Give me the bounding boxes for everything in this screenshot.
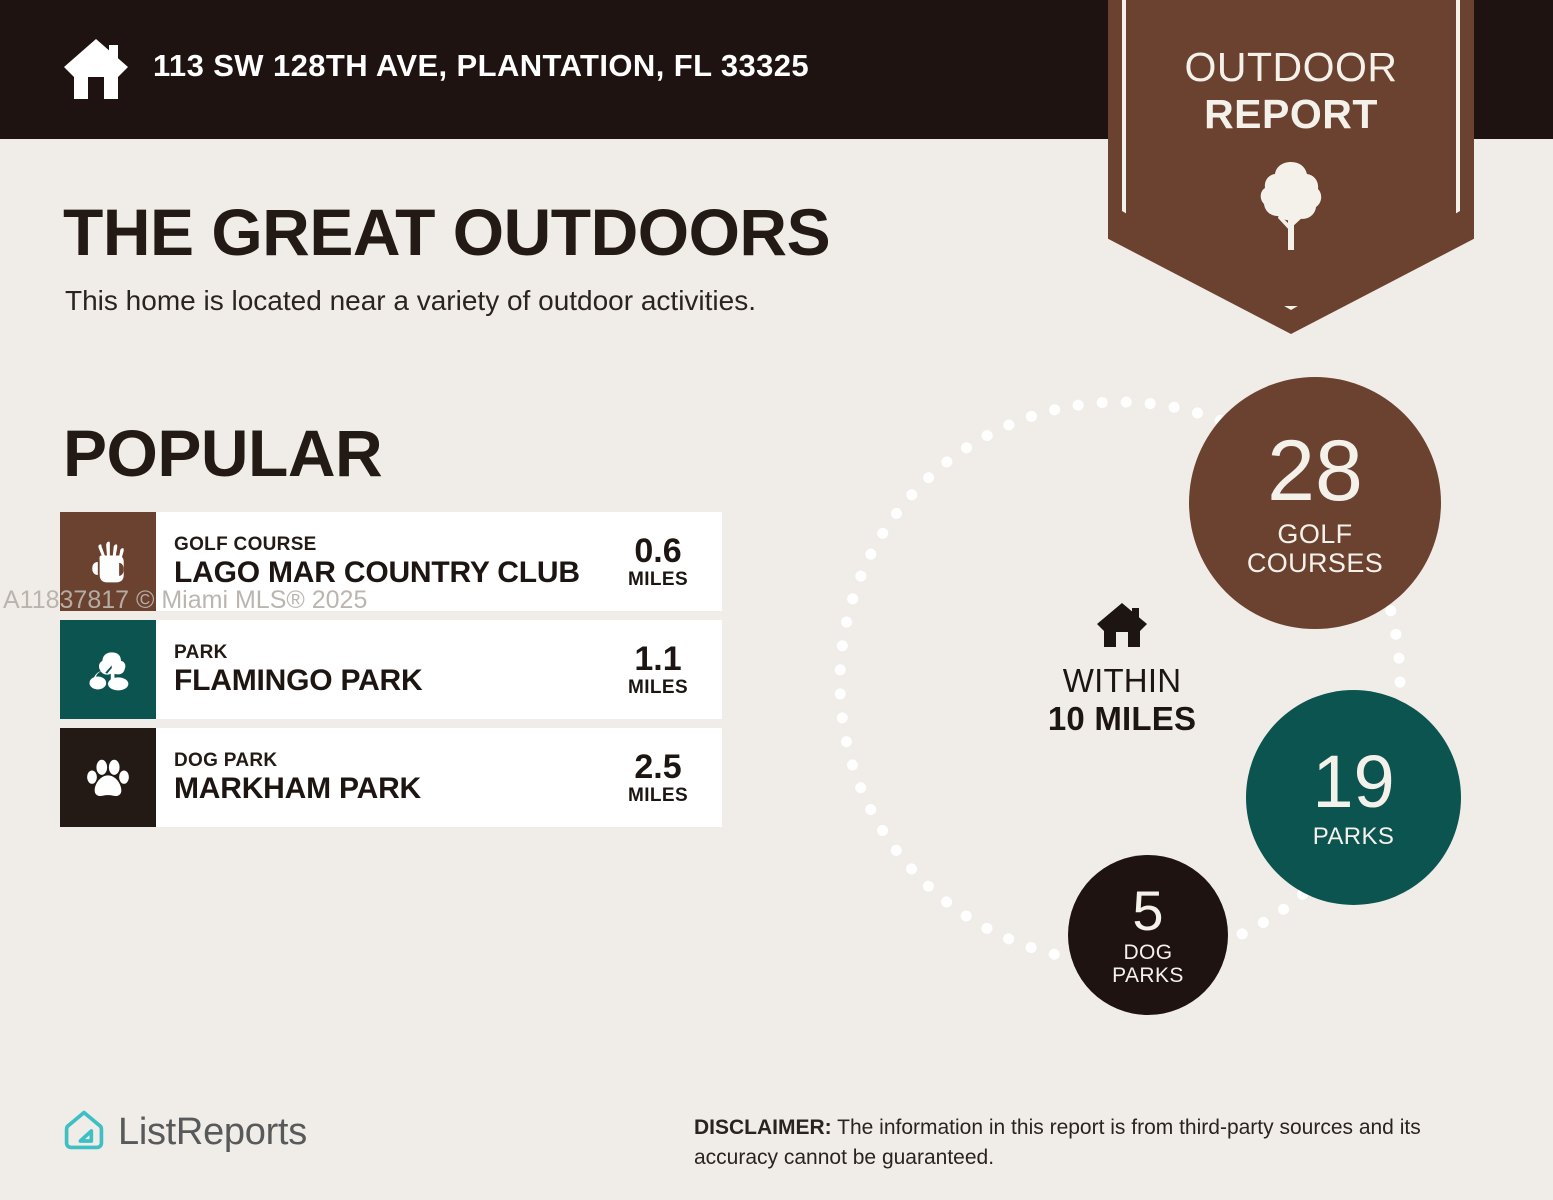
poi-distance: 1.1 MILES — [602, 620, 722, 719]
poi-distance-value: 2.5 — [634, 749, 681, 785]
poi-icon-box — [60, 512, 156, 611]
listreports-logo[interactable]: ListReports — [62, 1108, 307, 1157]
popular-heading: POPULAR — [63, 415, 382, 491]
badge-title: OUTDOOR REPORT — [1108, 44, 1474, 138]
poi-text: DOG PARK MARKHAM PARK — [156, 728, 602, 827]
popular-list: GOLF COURSE LAGO MAR COUNTRY CLUB 0.6 MI… — [60, 512, 722, 836]
poi-name: FLAMINGO PARK — [174, 664, 602, 698]
stat-label: PARKS — [1313, 824, 1395, 850]
within-line2: 10 MILES — [1008, 700, 1236, 738]
within-line1: WITHIN — [1008, 662, 1236, 700]
stat-label-line1: DOG — [1123, 941, 1172, 964]
poi-text: PARK FLAMINGO PARK — [156, 620, 602, 719]
list-item[interactable]: PARK FLAMINGO PARK 1.1 MILES — [60, 620, 722, 719]
list-item[interactable]: GOLF COURSE LAGO MAR COUNTRY CLUB 0.6 MI… — [60, 512, 722, 611]
page-title: THE GREAT OUTDOORS — [63, 194, 830, 270]
poi-name: MARKHAM PARK — [174, 772, 602, 806]
poi-distance-unit: MILES — [628, 785, 688, 807]
golf-bag-icon — [83, 537, 133, 587]
stat-label-line2: PARKS — [1112, 964, 1184, 987]
list-item[interactable]: DOG PARK MARKHAM PARK 2.5 MILES — [60, 728, 722, 827]
disclaimer: DISCLAIMER: The information in this repo… — [694, 1113, 1494, 1173]
stat-circle-parks: 19 PARKS — [1246, 690, 1461, 905]
poi-category: GOLF COURSE — [174, 534, 602, 556]
stat-value: 5 — [1132, 883, 1163, 939]
poi-distance-unit: MILES — [628, 677, 688, 699]
brand-name: ListReports — [118, 1111, 307, 1154]
poi-icon-box — [60, 620, 156, 719]
poi-icon-box — [60, 728, 156, 827]
stat-label-line2: COURSES — [1247, 548, 1383, 578]
poi-distance: 2.5 MILES — [602, 728, 722, 827]
poi-distance-unit: MILES — [628, 569, 688, 591]
poi-distance-value: 0.6 — [634, 533, 681, 569]
badge-title-line1: OUTDOOR — [1184, 44, 1397, 90]
home-icon — [60, 33, 132, 105]
stat-circle-dog-parks: 5 DOG PARKS — [1068, 855, 1228, 1015]
stat-label: DOG PARKS — [1112, 942, 1184, 987]
tree-park-icon — [83, 645, 133, 695]
stat-circle-golf-courses: 28 GOLF COURSES — [1189, 377, 1441, 629]
within-radius-block: WITHIN 10 MILES — [1008, 600, 1236, 738]
home-icon — [1095, 600, 1149, 650]
listreports-house-icon — [62, 1108, 106, 1157]
paw-icon — [84, 754, 132, 802]
poi-distance: 0.6 MILES — [602, 512, 722, 611]
stat-value: 28 — [1267, 428, 1363, 514]
outdoor-report-page: 113 SW 128TH AVE, PLANTATION, FL 33325 O… — [0, 0, 1553, 1200]
stat-value: 19 — [1312, 745, 1394, 819]
page-subtitle: This home is located near a variety of o… — [65, 285, 756, 317]
disclaimer-label: DISCLAIMER: — [694, 1116, 832, 1139]
stat-label-line1: GOLF — [1277, 519, 1352, 549]
poi-name: LAGO MAR COUNTRY CLUB — [174, 556, 602, 590]
poi-category: PARK — [174, 642, 602, 664]
badge-title-line2: REPORT — [1108, 91, 1474, 138]
poi-distance-value: 1.1 — [634, 641, 681, 677]
tree-icon — [1258, 160, 1324, 252]
property-address: 113 SW 128TH AVE, PLANTATION, FL 33325 — [153, 48, 809, 84]
poi-text: GOLF COURSE LAGO MAR COUNTRY CLUB — [156, 512, 602, 611]
poi-category: DOG PARK — [174, 750, 602, 772]
stat-label: GOLF COURSES — [1247, 520, 1383, 578]
